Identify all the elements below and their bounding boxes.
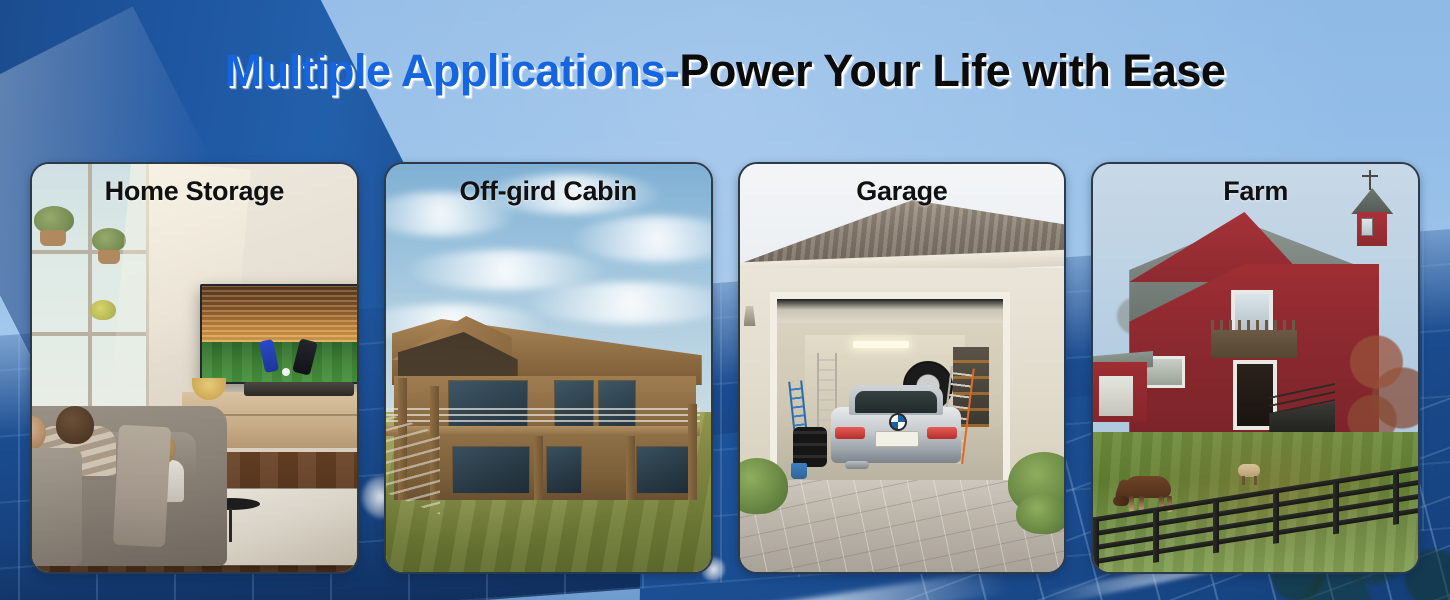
card-label-home-storage: Home Storage — [32, 176, 357, 207]
card-label-garage: Garage — [740, 176, 1065, 207]
ceiling-light-icon — [853, 341, 909, 348]
garage-interior — [777, 323, 1003, 485]
applications-banner: Multiple Applications-Power Your Life wi… — [0, 0, 1450, 600]
application-card-farm[interactable]: Farm — [1091, 162, 1420, 574]
headline-rest: Power Your Life with Ease — [679, 45, 1225, 96]
garage-photo — [740, 164, 1065, 572]
blanket — [113, 425, 171, 548]
red-bush-icon — [1342, 326, 1418, 446]
off-gird-cabin-photo — [386, 164, 711, 572]
soundbar-icon — [244, 382, 354, 396]
car-icon — [831, 385, 961, 469]
cloud-icon — [406, 250, 606, 290]
tire-stack-icon — [793, 427, 827, 467]
television-icon — [200, 284, 357, 384]
application-card-off-gird-cabin[interactable]: Off-gird Cabin — [384, 162, 713, 574]
barn-balcony — [1211, 330, 1297, 358]
farm-photo — [1093, 164, 1418, 572]
bush-icon — [1016, 494, 1064, 534]
garage-door-panel — [777, 299, 1003, 323]
bucket-icon — [791, 463, 807, 479]
card-label-off-gird-cabin: Off-gird Cabin — [386, 176, 711, 207]
application-card-garage[interactable]: Garage — [738, 162, 1067, 574]
application-card-list: Home Storage — [30, 162, 1420, 570]
application-card-home-storage[interactable]: Home Storage — [30, 162, 359, 574]
home-storage-photo — [32, 164, 357, 572]
headline-highlight: Multiple Applications- — [225, 45, 680, 96]
card-label-farm: Farm — [1093, 176, 1418, 207]
page-title: Multiple Applications-Power Your Life wi… — [0, 47, 1450, 94]
